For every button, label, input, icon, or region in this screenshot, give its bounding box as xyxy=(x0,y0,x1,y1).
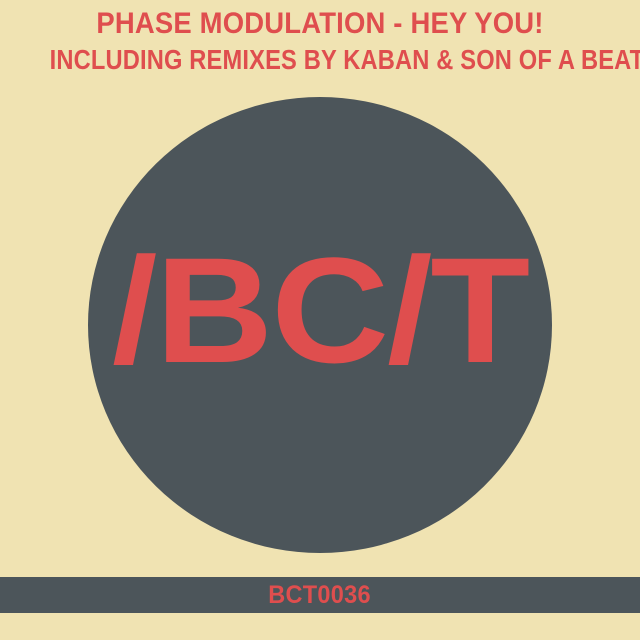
release-title-block: PHASE MODULATION - HEY YOU! INCLUDING RE… xyxy=(0,0,640,74)
album-cover-artwork: PHASE MODULATION - HEY YOU! INCLUDING RE… xyxy=(0,0,640,640)
catalog-number-bar: BCT0036 xyxy=(0,577,640,613)
catalog-number-label: BCT0036 xyxy=(269,583,372,608)
release-title-primary: PHASE MODULATION - HEY YOU! xyxy=(27,9,613,39)
logo-circle-shape xyxy=(88,97,552,553)
release-title-secondary: INCLUDING REMIXES BY KABAN & SON OF A BE… xyxy=(50,46,591,74)
